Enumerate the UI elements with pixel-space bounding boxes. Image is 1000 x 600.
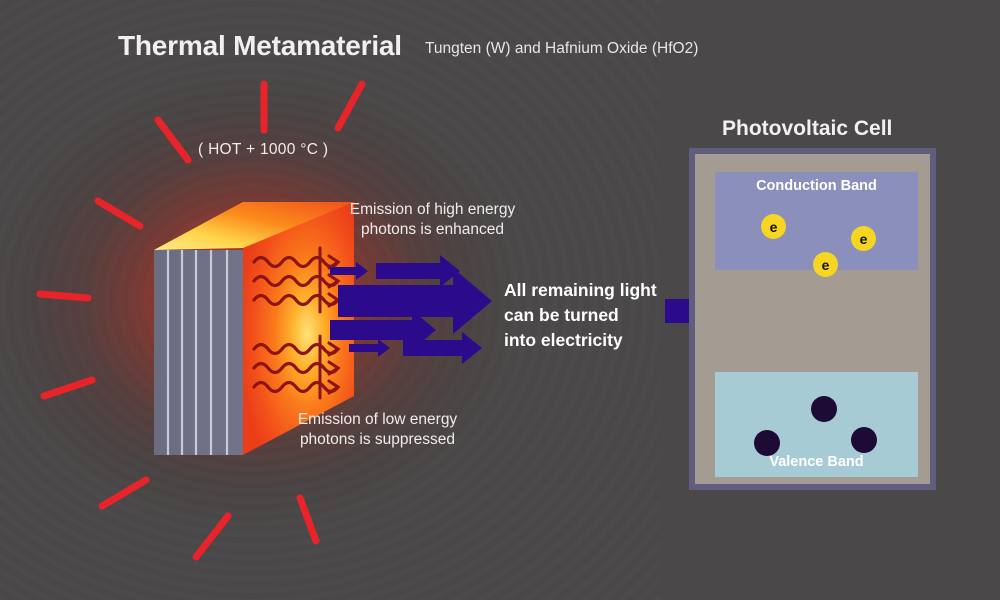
emitted-light-arrows bbox=[330, 255, 492, 364]
electron-hole bbox=[811, 396, 837, 422]
light-arrow-small bbox=[349, 339, 390, 357]
electron-hole bbox=[851, 427, 877, 453]
heat-ray bbox=[196, 516, 228, 557]
conduction-band-label: Conduction Band bbox=[715, 178, 918, 194]
heat-ray bbox=[158, 120, 188, 160]
heat-ray bbox=[338, 84, 362, 128]
conduction-band: Conduction Band e e e bbox=[715, 172, 918, 270]
note-electricity: All remaining light can be turned into e… bbox=[504, 278, 684, 353]
light-arrow-medium bbox=[376, 255, 460, 287]
electron: e bbox=[813, 252, 838, 277]
heat-ray bbox=[300, 498, 316, 541]
diagram-canvas: Thermal Metamaterial Tungten (W) and Haf… bbox=[0, 0, 1000, 600]
temperature-label: ( HOT + 1000 °C ) bbox=[198, 141, 328, 159]
heat-ray bbox=[102, 480, 146, 506]
heat-ray bbox=[40, 294, 88, 298]
photovoltaic-cell: Conduction Band e e e Valence Band bbox=[689, 148, 936, 490]
electron: e bbox=[851, 226, 876, 251]
electron-hole bbox=[754, 430, 780, 456]
note-low-energy: Emission of low energy photons is suppre… bbox=[290, 410, 465, 451]
heat-ray bbox=[44, 380, 92, 396]
page-title: Thermal Metamaterial bbox=[118, 30, 402, 62]
heat-ray bbox=[98, 201, 140, 226]
note-high-energy: Emission of high energy photons is enhan… bbox=[345, 200, 520, 241]
valence-band: Valence Band bbox=[715, 372, 918, 477]
page-subtitle: Tungten (W) and Hafnium Oxide (HfO2) bbox=[425, 40, 698, 58]
electron: e bbox=[761, 214, 786, 239]
photovoltaic-title: Photovoltaic Cell bbox=[722, 117, 892, 141]
valence-band-label: Valence Band bbox=[715, 454, 918, 470]
